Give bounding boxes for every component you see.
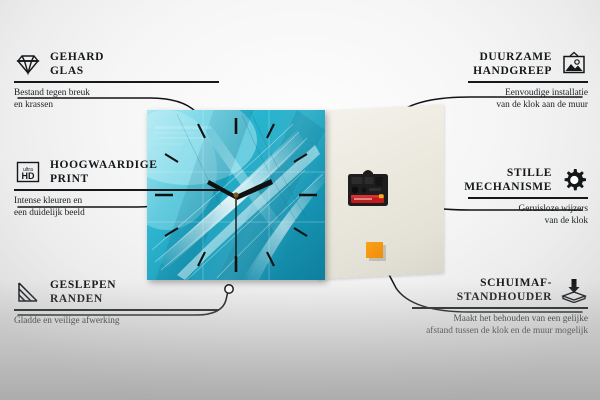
feature-desc-line1: Bestand tegen breuk [14,88,90,98]
svg-text:HD: HD [22,171,35,181]
feature-divider [14,189,219,191]
feature-duurzame-handgreep: DUURZAME HANDGREEP Eenvoudige installati… [468,50,588,111]
feature-title-line1: DUURZAME [479,51,552,63]
feature-title-line2: STANDHOUDER [457,291,552,303]
feature-desc-line1: Intense kleuren en [14,196,82,206]
feature-gehard-glas: GEHARD GLAS Bestand tegen breuk en krass… [14,50,219,111]
feature-desc-line2: afstand tussen de klok en de muur mogeli… [426,326,588,336]
clock-mechanism [345,166,391,210]
diamond-icon [14,51,42,77]
feature-title-line1: STILLE [507,167,552,179]
feature-desc-line1: Eenvoudige installatie [505,88,588,98]
feature-stille-mechanisme: STILLE MECHANISME Geruisloze wijzers van… [468,166,588,227]
gear-icon [560,167,588,193]
press-down-spacer-icon [560,277,588,303]
feature-title-line1: SCHUIMAF- [480,277,552,289]
feature-divider [468,81,588,83]
feature-desc-line2: van de klok aan de muur [496,100,588,110]
feature-desc-line2: en krassen [14,100,53,110]
dot-randen [225,285,233,293]
infographic-canvas: GEHARD GLAS Bestand tegen breuk en krass… [0,0,600,400]
feature-geslepen-randen: GESLEPEN RANDEN Gladde en veilige afwerk… [14,278,219,327]
feature-title-line2: MECHANISME [464,181,552,193]
ultra-hd-icon: ultra HD [14,159,42,185]
feature-title-line2: RANDEN [50,293,103,305]
feature-schuimaf-standhouder: SCHUIMAF- STANDHOUDER Maakt het behouden… [412,276,588,337]
feature-title-line1: GESLEPEN [50,279,116,291]
feature-title-line2: PRINT [50,173,89,185]
feature-divider [14,81,219,83]
feature-divider [412,307,588,309]
beveled-edges-icon [14,279,42,305]
feature-title-line2: HANDGREEP [473,65,552,77]
feature-title-line1: GEHARD [50,51,104,63]
feature-desc-line2: een duidelijk beeld [14,208,85,218]
feature-desc-line1: Geruisloze wijzers [519,204,588,214]
feature-title-line2: GLAS [50,65,84,77]
feature-desc-line1: Gladde en veilige afwerking [14,316,120,326]
feature-hoogwaardige-print: ultra HD HOOGWAARDIGE PRINT Intense kleu… [14,158,219,219]
feature-title-line1: HOOGWAARDIGE [50,159,158,171]
feature-divider [468,197,588,199]
hanging-picture-icon [560,51,588,77]
feature-desc-line1: Maakt het behouden van een gelijke [454,314,589,324]
feature-divider [14,309,219,311]
foam-spacer-pad [366,242,383,258]
feature-desc-line2: van de klok [545,216,588,226]
